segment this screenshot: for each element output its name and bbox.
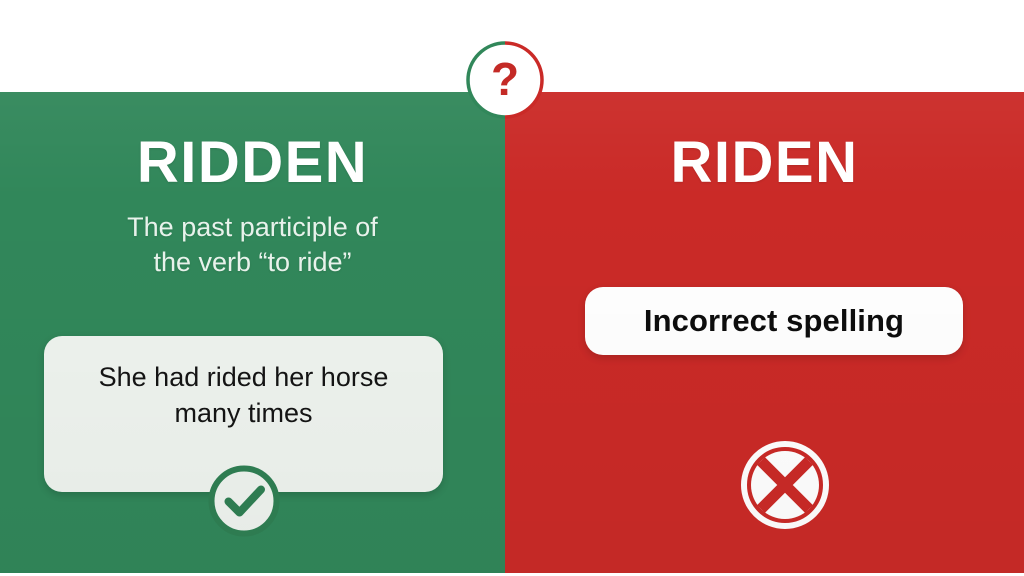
question-mark-glyph: ?	[491, 53, 519, 105]
incorrect-panel: RIDEN Incorrect spelling	[505, 92, 1024, 570]
x-circle-icon	[737, 437, 833, 533]
incorrect-word-title: RIDEN	[505, 134, 1024, 192]
correct-subtitle-line-1: The past participle of	[30, 210, 474, 245]
correct-subtitle: The past participle of the verb “to ride…	[30, 210, 474, 279]
incorrect-spelling-card: Incorrect spelling	[585, 287, 963, 355]
correct-panel: RIDDEN The past participle of the verb “…	[0, 92, 505, 570]
bottom-strip-right	[505, 570, 1024, 573]
incorrect-spelling-label: Incorrect spelling	[644, 303, 904, 339]
example-sentence-text: She had rided her horse many times	[99, 360, 389, 431]
check-circle-icon	[205, 462, 283, 540]
correct-word-title: RIDDEN	[0, 134, 505, 192]
comparison-graphic: RIDDEN The past participle of the verb “…	[0, 0, 1024, 576]
bottom-strip-left	[0, 570, 505, 573]
example-sentence-line-2: many times	[99, 396, 389, 432]
correct-subtitle-line-2: the verb “to ride”	[30, 245, 474, 280]
example-sentence-line-1: She had rided her horse	[99, 360, 389, 396]
bottom-strip	[0, 570, 1024, 576]
question-badge: ?	[465, 40, 545, 120]
